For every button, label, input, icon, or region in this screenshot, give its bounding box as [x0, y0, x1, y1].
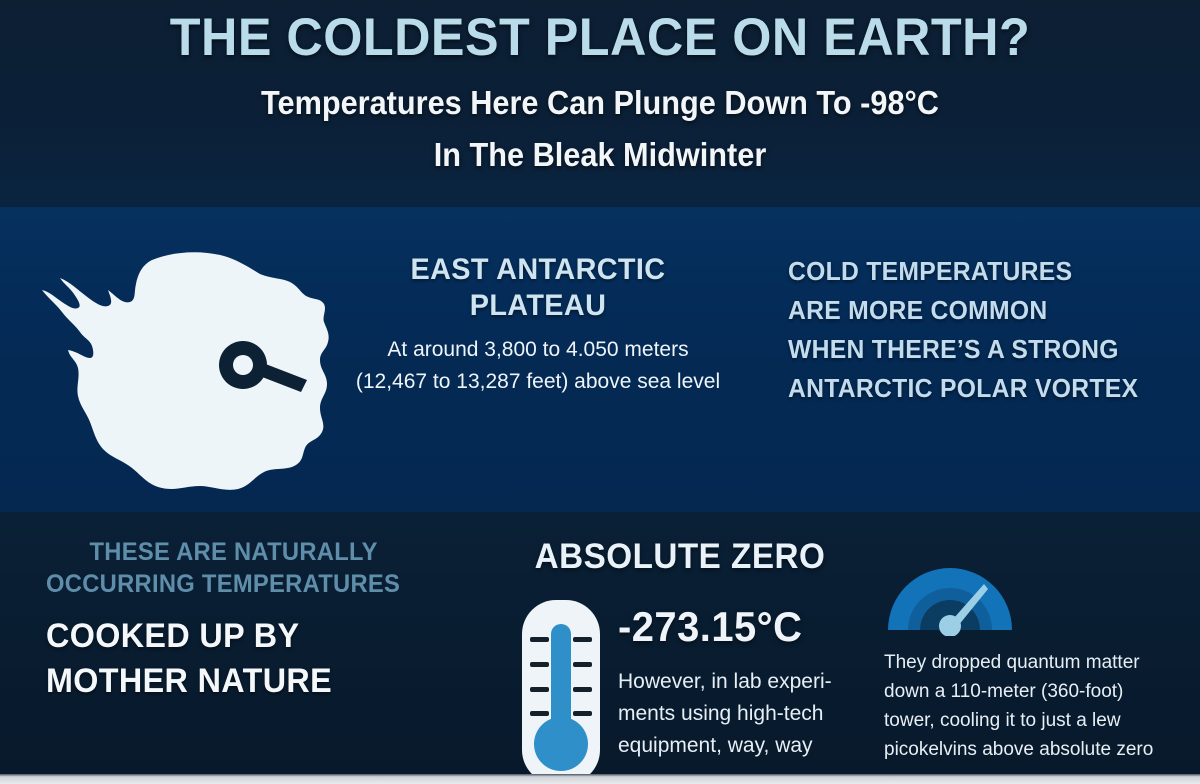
quantum-body-line-1: They dropped quantum matter: [884, 648, 1196, 677]
absolute-zero-value: -273.15°C: [618, 602, 802, 652]
page-title: THE COLDEST PLACE ON EARTH?: [30, 8, 1170, 68]
nature-muted-line-1: THESE ARE NATURALLY: [46, 536, 421, 568]
gauge-icon: [884, 556, 1016, 636]
quantum-body-line-2: down a 110-meter (360-foot): [884, 677, 1196, 706]
plateau-heading-line-2: PLATEAU: [359, 288, 716, 324]
vortex-line-1: COLD TEMPERATURES: [788, 252, 1168, 291]
absolute-zero-body-line-2: ments using high-tech: [618, 698, 870, 730]
absolute-zero-body-line-1: However, in lab experi-: [618, 666, 870, 698]
nature-strong-line-2: MOTHER NATURE: [46, 659, 455, 704]
polar-vortex-block: COLD TEMPERATURES ARE MORE COMMON WHEN T…: [788, 252, 1188, 408]
antarctica-map-icon: [24, 246, 364, 496]
mother-nature-block: THESE ARE NATURALLY OCCURRING TEMPERATUR…: [46, 536, 476, 704]
thermometer-icon: [518, 596, 604, 784]
vortex-line-4: ANTARCTIC POLAR VORTEX: [788, 369, 1168, 408]
nature-strong-line-1: COOKED UP BY: [46, 614, 455, 659]
page-bottom-edge: [0, 774, 1200, 784]
quantum-body: They dropped quantum matter down a 110-m…: [884, 648, 1196, 764]
nature-muted-line-2: OCCURRING TEMPERATURES: [46, 568, 455, 600]
page-subtitle-line-2: In The Bleak Midwinter: [42, 134, 1158, 175]
plateau-heading-line-1: EAST ANTARCTIC: [359, 252, 716, 288]
plateau-body-text: At around 3,800 to 4.050 meters (12,467 …: [352, 334, 724, 398]
vortex-line-2: ARE MORE COMMON: [788, 291, 1168, 330]
page-subtitle-line-1: Temperatures Here Can Plunge Down To -98…: [42, 82, 1158, 123]
quantum-body-line-4: picokelvins above absolute zero: [884, 735, 1196, 764]
plateau-block: EAST ANTARCTIC PLATEAU At around 3,800 t…: [352, 252, 724, 398]
infographic-root: THE COLDEST PLACE ON EARTH? Temperatures…: [0, 0, 1200, 784]
quantum-body-line-3: tower, cooling it to just a lew: [884, 706, 1196, 735]
vortex-line-3: WHEN THERE’S A STRONG: [788, 330, 1168, 369]
absolute-zero-body: However, in lab experi- ments using high…: [618, 666, 870, 762]
absolute-zero-body-line-3: equipment, way, way: [618, 730, 870, 762]
absolute-zero-heading: ABSOLUTE ZERO: [509, 536, 851, 578]
